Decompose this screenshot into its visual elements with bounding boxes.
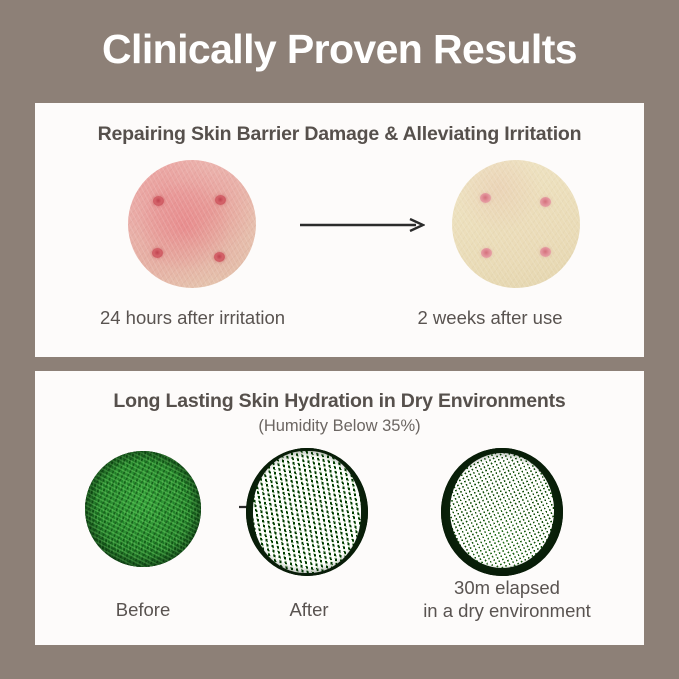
skin-after-texture xyxy=(452,160,580,288)
skin-comparison-row xyxy=(35,160,644,288)
page-title: Clinically Proven Results xyxy=(0,28,679,71)
panel-hydration: Long Lasting Skin Hydration in Dry Envir… xyxy=(35,371,644,645)
panel-irritation: Repairing Skin Barrier Damage & Alleviat… xyxy=(35,103,644,357)
skin-before-image xyxy=(128,160,256,288)
caption-hydration-before: Before xyxy=(73,598,213,621)
prick-mark-icon xyxy=(480,193,491,203)
arrow-right-icon xyxy=(300,218,425,232)
hydration-30m-vignette xyxy=(441,448,563,576)
prick-mark-icon xyxy=(215,195,226,205)
panel-hydration-subtitle: (Humidity Below 35%) xyxy=(35,417,644,436)
prick-mark-icon xyxy=(152,248,163,258)
caption-skin-after: 2 weeks after use xyxy=(345,306,635,329)
prick-mark-icon xyxy=(481,248,492,258)
prick-mark-icon xyxy=(214,252,225,262)
hydration-30m-image xyxy=(441,448,563,576)
caption-hydration-30m-line1: 30m elapsed xyxy=(407,576,607,599)
caption-hydration-after: After xyxy=(239,598,379,621)
prick-mark-icon xyxy=(153,196,164,206)
skin-caption-row: 24 hours after irritation 2 weeks after … xyxy=(35,306,644,336)
hydration-caption-row: Before After 30m elapsed in a dry enviro… xyxy=(35,598,644,628)
caption-hydration-30m: 30m elapsed in a dry environment xyxy=(407,576,607,623)
hydration-comparison-row xyxy=(35,448,644,580)
caption-hydration-30m-line2: in a dry environment xyxy=(407,599,607,622)
prick-mark-icon xyxy=(540,197,551,207)
panel-irritation-title: Repairing Skin Barrier Damage & Alleviat… xyxy=(35,123,644,146)
skin-before-texture xyxy=(128,160,256,288)
hydration-before-image xyxy=(85,451,201,567)
skin-after-image xyxy=(452,160,580,288)
prick-mark-icon xyxy=(540,247,551,257)
panel-hydration-title: Long Lasting Skin Hydration in Dry Envir… xyxy=(35,390,644,413)
hydration-after-image xyxy=(246,448,368,576)
caption-skin-before: 24 hours after irritation xyxy=(35,306,350,329)
hydration-after-vignette xyxy=(246,448,368,576)
promo-graphic: Clinically Proven Results Repairing Skin… xyxy=(0,0,679,679)
hydration-before-vignette xyxy=(85,451,201,567)
